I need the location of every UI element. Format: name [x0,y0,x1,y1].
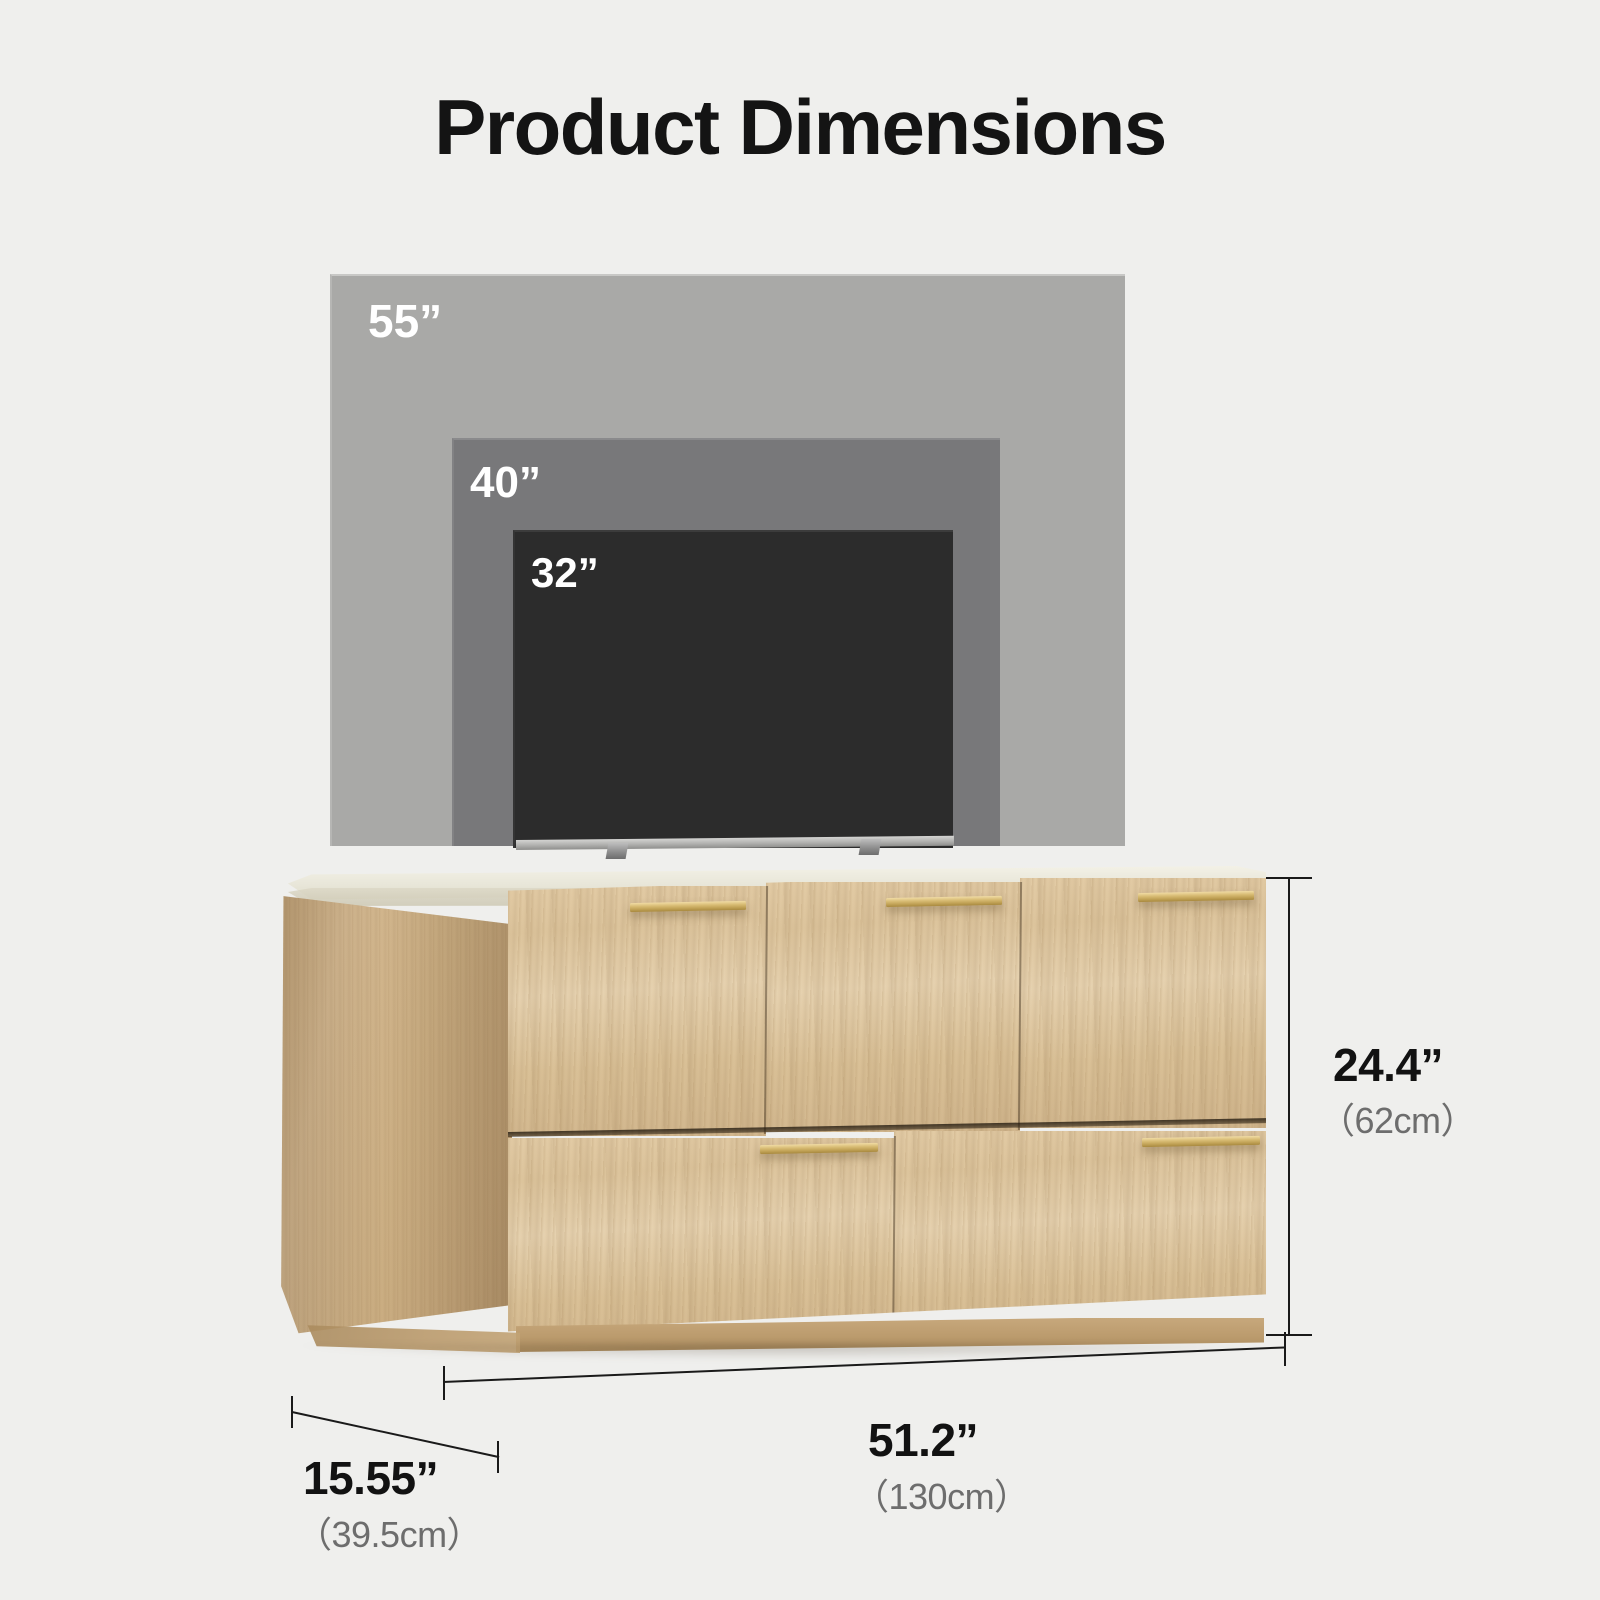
cabinet-door-bottom-2[interactable] [894,1131,1270,1343]
cabinet-door-top-2[interactable] [766,882,1020,1132]
width-dimension-tick-left [443,1366,445,1400]
height-dimension-tick-bottom [1266,1334,1312,1336]
tv-size-label-40: 40” [470,458,541,508]
depth-dimension-tick-right [497,1441,499,1473]
tv-stand-product [280,866,1270,1366]
width-dimension-value-imperial: 51.2” [868,1413,978,1467]
tv-foot-right [859,839,882,855]
height-dimension-line [1288,878,1290,1336]
width-dimension-value-metric: （130cm） [853,1468,1030,1520]
depth-dimension-value-metric: （39.5cm） [296,1506,482,1558]
tv-size-label-32: 32” [531,549,599,597]
height-dimension-value-metric: （62cm） [1319,1092,1476,1144]
tv-size-label-55: 55” [368,294,442,348]
cabinet-door-top-1[interactable] [508,886,766,1136]
cabinet-left-side-panel [280,882,512,1352]
product-dimensions-infographic: Product Dimensions 55” 40” 32” [0,0,1600,1600]
depth-dimension-value-imperial: 15.55” [303,1451,438,1505]
height-dimension-value-imperial: 24.4” [1333,1038,1443,1092]
depth-dimension-tick-left [291,1396,293,1428]
page-title: Product Dimensions [0,82,1600,173]
width-dimension-tick-right [1284,1332,1286,1366]
cabinet-door-bottom-1[interactable] [508,1138,894,1348]
tv-foot-left [606,843,629,859]
cabinet-ground-shadow [300,1344,1260,1360]
cabinet-front-face [508,886,1266,1350]
height-dimension-tick-top [1266,877,1312,879]
cabinet-door-top-3[interactable] [1020,878,1270,1128]
